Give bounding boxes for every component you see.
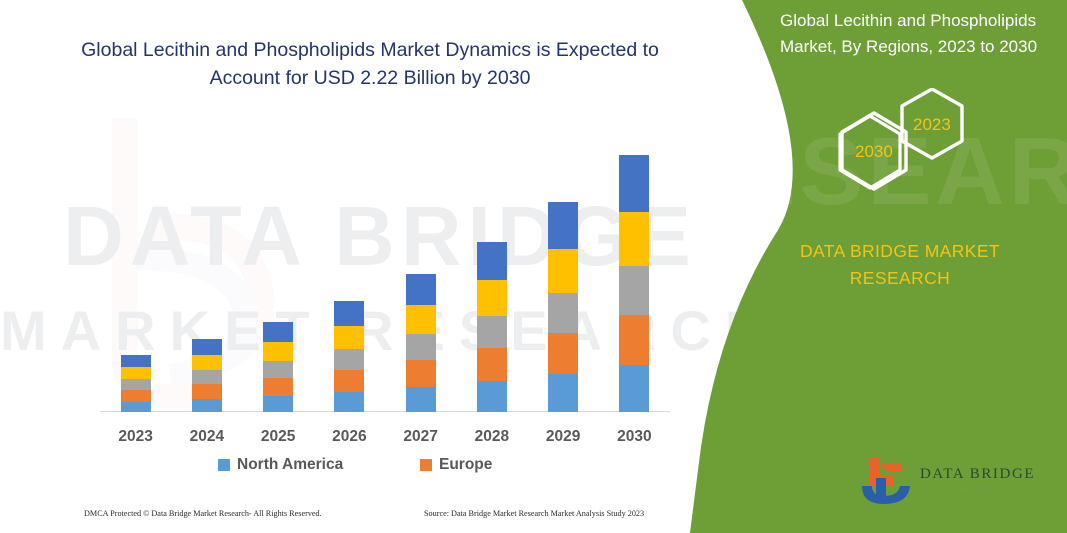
bar-segment-2027-s1[interactable] (406, 387, 436, 412)
x-axis-label-2023: 2023 (101, 428, 171, 446)
bar-segment-2025-s3[interactable] (263, 361, 293, 378)
bar-segment-2023-s4[interactable] (121, 367, 151, 379)
bar-segment-2030-s1[interactable] (619, 365, 649, 412)
legend-swatch-icon (420, 459, 432, 471)
chart-legend: North AmericaEurope (100, 456, 670, 480)
bar-segment-2030-s4[interactable] (619, 212, 649, 266)
bar-segment-2029-s2[interactable] (548, 333, 578, 374)
bar-2029[interactable] (548, 202, 578, 412)
legend-item-europe[interactable]: Europe (420, 456, 492, 474)
bar-segment-2023-s1[interactable] (121, 402, 151, 412)
hexagon-outline-icon (802, 88, 1022, 218)
x-axis-labels: 20232024202520262027202820292030 (100, 428, 670, 452)
bar-segment-2029-s4[interactable] (548, 249, 578, 293)
x-axis-label-2025: 2025 (243, 428, 313, 446)
bar-2030[interactable] (619, 155, 649, 412)
logo-subtext: MARKET RESEARCH (920, 486, 1005, 492)
panel-title: Global Lecithin and Phospholipids Market… (780, 8, 1060, 59)
bar-segment-2024-s2[interactable] (192, 384, 222, 399)
bar-segment-2029-s1[interactable] (548, 374, 578, 412)
bar-segment-2028-s1[interactable] (477, 381, 507, 412)
bar-2025[interactable] (263, 322, 293, 412)
bar-segment-2023-s2[interactable] (121, 390, 151, 402)
x-axis-line (100, 411, 670, 412)
infographic-canvas: DATA BRIDGE MARKET RESEARCH Global Lecit… (0, 0, 1067, 533)
footer-source: Source: Data Bridge Market Research Mark… (424, 509, 644, 518)
legend-label: Europe (439, 456, 492, 474)
bar-segment-2028-s2[interactable] (477, 348, 507, 381)
chart-title: Global Lecithin and Phospholipids Market… (60, 36, 680, 93)
bar-segment-2024-s1[interactable] (192, 399, 222, 412)
bar-segment-2025-s4[interactable] (263, 342, 293, 361)
right-green-panel: RESEARCH Global Lecithin and Phospholipi… (690, 0, 1067, 533)
panel-brand-line-2: RESEARCH (750, 265, 1050, 292)
bar-segment-2030-s3[interactable] (619, 266, 649, 315)
data-bridge-mark-icon (858, 456, 918, 508)
bar-segment-2028-s3[interactable] (477, 316, 507, 348)
bar-2026[interactable] (334, 301, 364, 412)
bar-segment-2028-s5[interactable] (477, 242, 507, 280)
bar-segment-2024-s5[interactable] (192, 339, 222, 355)
bar-segment-2025-s2[interactable] (263, 378, 293, 396)
bar-segment-2026-s4[interactable] (334, 326, 364, 349)
bar-segment-2027-s5[interactable] (406, 274, 436, 305)
bar-segment-2024-s3[interactable] (192, 370, 222, 384)
bar-segment-2030-s5[interactable] (619, 155, 649, 212)
legend-swatch-icon (218, 459, 230, 471)
logo-wordmark: DATA BRIDGE (920, 466, 1035, 483)
chart-plot-area (100, 120, 670, 412)
x-axis-label-2024: 2024 (172, 428, 242, 446)
bar-segment-2028-s4[interactable] (477, 280, 507, 316)
bar-segment-2023-s5[interactable] (121, 355, 151, 367)
footer-copyright: DMCA Protected © Data Bridge Market Rese… (84, 509, 322, 518)
legend-label: North America (237, 456, 343, 474)
bar-2024[interactable] (192, 339, 222, 412)
panel-brand-name: DATA BRIDGE MARKET RESEARCH (750, 238, 1050, 292)
x-axis-label-2029: 2029 (528, 428, 598, 446)
bar-segment-2029-s3[interactable] (548, 293, 578, 333)
x-axis-label-2030: 2030 (599, 428, 669, 446)
bar-segment-2026-s1[interactable] (334, 392, 364, 412)
bar-segment-2026-s5[interactable] (334, 301, 364, 326)
bar-2023[interactable] (121, 355, 151, 412)
bar-segment-2026-s3[interactable] (334, 349, 364, 370)
bar-segment-2025-s5[interactable] (263, 322, 293, 342)
bar-segment-2027-s3[interactable] (406, 334, 436, 360)
bar-2028[interactable] (477, 242, 507, 412)
x-axis-label-2028: 2028 (457, 428, 527, 446)
bar-segment-2026-s2[interactable] (334, 370, 364, 392)
hex-label-2030: 2030 (855, 142, 893, 162)
hex-label-2023: 2023 (913, 115, 951, 135)
bar-segment-2027-s2[interactable] (406, 360, 436, 387)
bar-segment-2023-s3[interactable] (121, 379, 151, 390)
bar-segment-2027-s4[interactable] (406, 305, 436, 334)
hexagon-badges: 2030 2023 (802, 88, 1022, 218)
data-bridge-logo: DATA BRIDGE MARKET RESEARCH (858, 456, 1048, 511)
x-axis-label-2027: 2027 (386, 428, 456, 446)
bar-segment-2029-s5[interactable] (548, 202, 578, 249)
bar-segment-2025-s1[interactable] (263, 396, 293, 412)
panel-brand-line-1: DATA BRIDGE MARKET (750, 238, 1050, 265)
x-axis-label-2026: 2026 (314, 428, 384, 446)
bar-segment-2024-s4[interactable] (192, 355, 222, 370)
legend-item-north-america[interactable]: North America (218, 456, 343, 474)
bar-segment-2030-s2[interactable] (619, 315, 649, 365)
bar-2027[interactable] (406, 274, 436, 412)
